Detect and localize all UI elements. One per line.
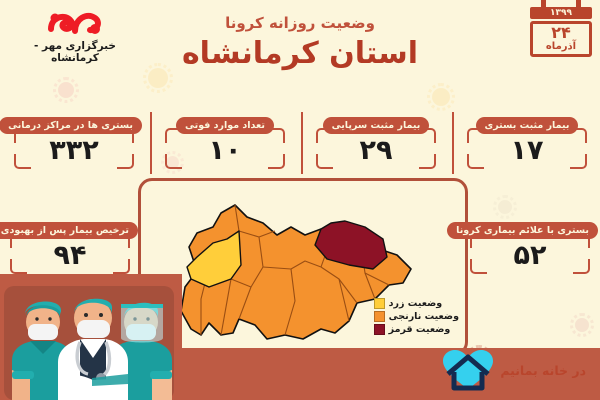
legend-label: وضعیت قرمز bbox=[389, 324, 451, 335]
virus-decoration-icon bbox=[148, 68, 168, 88]
legend-label: وضعیت زرد bbox=[389, 298, 443, 309]
stat-divider bbox=[150, 112, 152, 174]
stat-label: تعداد موارد فوتی bbox=[176, 117, 274, 134]
virus-decoration-icon bbox=[498, 200, 512, 214]
virus-decoration-icon bbox=[58, 82, 74, 98]
legend-swatch-orange bbox=[374, 311, 385, 322]
stay-home-slogan: در خانه بمانیم bbox=[500, 363, 586, 378]
stat-divider bbox=[452, 112, 454, 174]
legend-item-red: وضعیت قرمز bbox=[374, 324, 459, 335]
stat-outpatient-positive: بیمار مثبت سرپایی ۲۹ bbox=[308, 113, 444, 169]
map-panel: وضعیت زرد وضعیت نارنجی وضعیت قرمز bbox=[138, 178, 468, 356]
stat-deaths: تعداد موارد فوتی ۱۰ bbox=[157, 113, 293, 169]
date-month: آذرماه bbox=[533, 41, 589, 52]
mehr-news-logo: خبرگزاری مهر - کرمانشاه bbox=[14, 8, 136, 64]
stay-home-logo: در خانه بمانیم bbox=[440, 348, 586, 392]
stat-admitted-with-symptoms: بستری با علائم بیماری کرونا ۵۲ bbox=[462, 218, 598, 274]
legend-label: وضعیت نارنجی bbox=[389, 311, 459, 322]
legend-swatch-yellow bbox=[374, 298, 385, 309]
heart-house-icon bbox=[440, 348, 496, 392]
calendar-rings-icon bbox=[530, 0, 592, 7]
logo-caption: خبرگزاری مهر - کرمانشاه bbox=[14, 40, 136, 64]
date-day: ۲۴ bbox=[533, 25, 589, 41]
stat-recovered-discharged: ترخیص بیمار پس از بهبودی ۹۴ bbox=[2, 218, 138, 274]
date-badge: ۱۳۹۹ ۲۴ آذرماه bbox=[530, 0, 592, 57]
stat-label: بستری با علائم بیماری کرونا bbox=[447, 222, 598, 239]
mehr-logo-mark-icon bbox=[14, 8, 136, 38]
virus-decoration-icon bbox=[575, 318, 589, 332]
stat-hospitalized-in-centers: بستری ها در مراکز درمانی ۳۳۲ bbox=[6, 113, 142, 169]
stat-inpatient-positive: بیمار مثبت بستری ۱۷ bbox=[459, 113, 595, 169]
virus-decoration-icon bbox=[432, 88, 450, 106]
stat-label: بستری ها در مراکز درمانی bbox=[0, 117, 142, 134]
legend-item-yellow: وضعیت زرد bbox=[374, 298, 459, 309]
stat-label: ترخیص بیمار پس از بهبودی bbox=[0, 222, 138, 239]
stat-label: بیمار مثبت سرپایی bbox=[323, 117, 430, 134]
stat-divider bbox=[301, 112, 303, 174]
legend-item-orange: وضعیت نارنجی bbox=[374, 311, 459, 322]
map-legend: وضعیت زرد وضعیت نارنجی وضعیت قرمز bbox=[374, 298, 459, 337]
medical-staff-illustration bbox=[0, 274, 182, 400]
legend-swatch-red bbox=[374, 324, 385, 335]
date-year: ۱۳۹۹ bbox=[530, 7, 592, 19]
infographic-canvas: خبرگزاری مهر - کرمانشاه وضعیت روزانه کرو… bbox=[0, 0, 600, 400]
date-body: ۲۴ آذرماه bbox=[530, 21, 592, 57]
stat-label: بیمار مثبت بستری bbox=[476, 117, 579, 134]
